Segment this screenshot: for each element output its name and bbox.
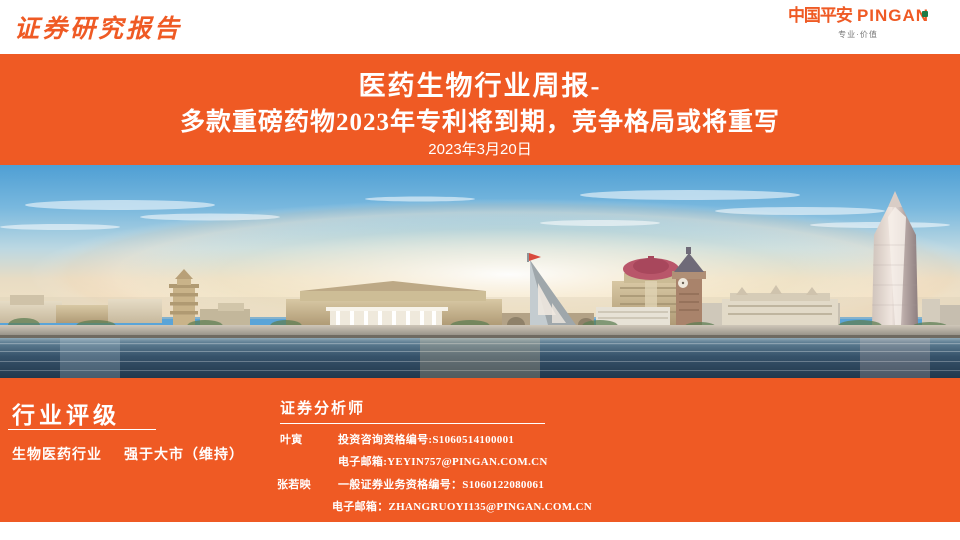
report-type-label: 证券研究报告 [14,9,182,45]
logo-accent-square-icon [922,11,928,17]
industry-rating-divider [8,429,156,430]
analyst-email-2[interactable]: 电子邮箱：ZHANGRUOYI135@PINGAN.COM.CN [332,498,592,514]
analysts-heading: 证券分析师 [280,397,365,418]
industry-rating-row: 生物医药行业强于大市（维持） [12,444,244,464]
analyst-name-1: 叶寅 [280,431,303,447]
report-title-line-1: 医药生物行业周报- [0,64,960,103]
pingan-logo: 中国平安PINGAN 专业·价值 [770,6,946,46]
page-header: 证券研究报告 中国平安PINGAN 专业·价值 [0,0,960,54]
industry-name: 生物医药行业 [12,448,102,463]
analyst-qualification-2: 一般证券业务资格编号：S1060122080061 [338,476,544,492]
footer-info-band: 行业评级 生物医药行业强于大市（维持） 证券分析师 叶寅 投资咨询资格编号:S1… [0,378,960,522]
cityscape-illustration [0,165,960,378]
logo-tagline: 专业·价值 [770,29,946,40]
analysts-divider [280,423,545,424]
logo-wordmark: 中国平安PINGAN [770,6,946,26]
logo-english-name: PINGAN [857,6,929,25]
report-title-line-2: 多款重磅药物2023年专利将到期，竞争格局或将重写 [0,102,960,138]
title-banner: 医药生物行业周报- 多款重磅药物2023年专利将到期，竞争格局或将重写 2023… [0,54,960,165]
analyst-email-1[interactable]: 电子邮箱:YEYIN757@PINGAN.COM.CN [338,453,548,469]
analyst-qualification-1: 投资咨询资格编号:S1060514100001 [338,431,514,447]
report-date: 2023年3月20日 [0,138,960,159]
analyst-name-2: 张若映 [277,476,311,492]
industry-rating-value: 强于大市（维持） [124,448,244,463]
cityscape-hero-image [0,165,960,378]
slide-cover: 证券研究报告 中国平安PINGAN 专业·价值 医药生物行业周报- 多款重磅药物… [0,0,960,540]
logo-chinese-name: 中国平安 [788,6,852,25]
industry-rating-heading: 行业评级 [12,396,120,430]
